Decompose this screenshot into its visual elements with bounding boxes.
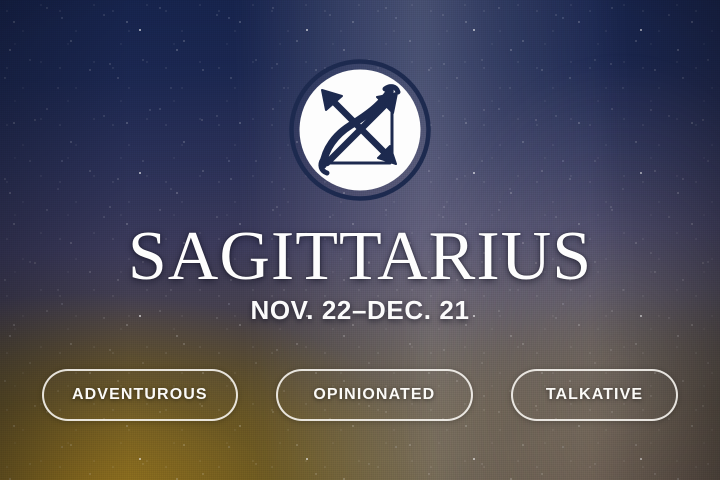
trait-pill-adventurous[interactable]: ADVENTUROUS [42,369,238,421]
trait-pill-label: OPINIONATED [313,386,435,404]
trait-pill-opinionated[interactable]: OPINIONATED [276,369,473,421]
trait-pill-talkative[interactable]: TALKATIVE [511,369,678,421]
trait-pill-group: ADVENTUROUS OPINIONATED TALKATIVE [42,368,678,422]
trait-pill-label: TALKATIVE [546,386,643,404]
zodiac-sign-card: SAGITTARIUS NOV. 22–DEC. 21 ADVENTUROUS … [0,0,720,480]
sagittarius-bow-and-arrow-icon [289,59,431,201]
page-title: SAGITTARIUS [0,222,720,292]
trait-pill-label: ADVENTUROUS [72,386,208,404]
date-range-label: NOV. 22–DEC. 21 [0,297,720,323]
sagittarius-emblem [289,59,431,201]
